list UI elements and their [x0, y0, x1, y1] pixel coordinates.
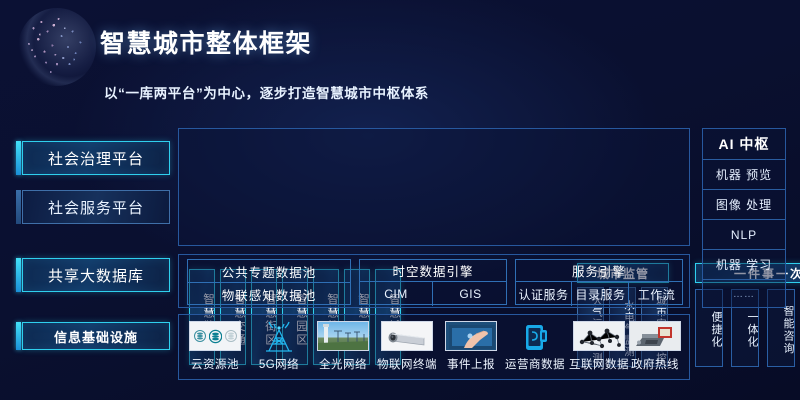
page-title: 智慧城市整体框架 — [100, 24, 312, 60]
particle-globe-icon — [18, 8, 96, 86]
engine-cell-cim[interactable]: CIM — [360, 282, 433, 306]
header: 智慧城市整体框架 以“一库两平台”为中心，逐步打造智慧城市中枢体系 — [0, 0, 800, 112]
spatiotemporal-engine-group: 时空数据引擎 CIM GIS — [359, 259, 507, 305]
page-subtitle: 以“一库两平台”为中心，逐步打造智慧城市中枢体系 — [104, 82, 429, 102]
one-thing-card-label: 便捷化 — [709, 311, 722, 349]
service-cell-label: 工作流 — [638, 286, 676, 303]
sidebar-item-label: 社会治理平台 — [48, 148, 144, 169]
group-title-label: 服务引擎 — [572, 261, 626, 280]
infra-item-label: 物联网终端 — [375, 356, 439, 372]
infra-item-government-hotline[interactable]: 政府热线 — [623, 321, 687, 375]
data-layer-panel: 公共专题数据池 物联感知数据池 时空数据引擎 CIM GIS 服务引擎 认证服务… — [178, 254, 690, 308]
infra-item-label: 运营商数据 — [503, 356, 567, 372]
iot-terminal-icon — [381, 321, 433, 353]
service-engine-group: 服务引擎 认证服务 目录服务 工作流 — [515, 259, 683, 305]
engine-cell-gis[interactable]: GIS — [434, 282, 507, 306]
infra-item-optical-network[interactable]: 全光网络 — [311, 321, 375, 375]
infrastructure-panel: 云资源池 5G网络 — [178, 314, 690, 380]
service-cell-auth[interactable]: 认证服务 — [516, 282, 572, 306]
engine-cell-label: CIM — [384, 287, 408, 301]
government-hotline-icon — [629, 321, 681, 353]
ai-hub-item-label: …… — [733, 289, 755, 300]
sidebar-accent-bar-1 — [16, 190, 21, 224]
infra-item-label: 全光网络 — [311, 356, 375, 372]
application-layer-panel: 智慧警务 智慧交通 智慧街区 智慧园区 智慧教育 智慧医疗 智慧城管 城市监管 … — [178, 128, 690, 246]
data-pool-public-theme[interactable]: 公共专题数据池 — [188, 260, 350, 283]
ai-hub-item-label: 机器 学习 — [716, 256, 772, 273]
engine-cell-label: GIS — [459, 287, 481, 301]
infra-item-event-report[interactable]: 事件上报 — [439, 321, 503, 375]
service-cell-label: 认证服务 — [518, 286, 568, 303]
data-pool-iot-sensing[interactable]: 物联感知数据池 — [188, 283, 350, 306]
event-report-icon — [445, 321, 497, 353]
data-pool-label: 公共专题数据池 — [222, 262, 317, 281]
service-cell-workflow[interactable]: 工作流 — [630, 282, 683, 306]
sidebar-item-social-governance[interactable]: 社会治理平台 — [22, 141, 170, 175]
sidebar-item-social-service[interactable]: 社会服务平台 — [22, 190, 170, 224]
ai-hub-item-nlp[interactable]: NLP — [703, 219, 785, 249]
sidebar-item-label: 信息基础设施 — [54, 327, 138, 346]
infra-item-label: 5G网络 — [247, 356, 311, 372]
infra-item-5g-network[interactable]: 5G网络 — [247, 321, 311, 375]
sidebar-accent-bar-0 — [16, 141, 21, 175]
ai-hub-item-image-processing[interactable]: 图像 处理 — [703, 189, 785, 219]
ai-hub-title: AI 中枢 — [703, 129, 785, 159]
ai-hub-item-machine-learning[interactable]: 机器 学习 — [703, 249, 785, 279]
cloud-resource-pool-icon — [189, 321, 241, 353]
ai-hub-item-label: NLP — [731, 228, 757, 242]
5g-tower-icon — [253, 321, 305, 353]
sidebar-item-label: 社会服务平台 — [48, 197, 144, 218]
ai-hub-item-label: 机器 预览 — [716, 166, 772, 183]
optical-network-icon — [317, 321, 369, 353]
data-pool-group: 公共专题数据池 物联感知数据池 — [187, 259, 351, 305]
infra-item-label: 政府热线 — [623, 356, 687, 372]
ai-hub-item-label: 图像 处理 — [716, 196, 772, 213]
internet-data-icon — [573, 321, 625, 353]
group-title-label: 时空数据引擎 — [392, 261, 473, 280]
spatiotemporal-engine-title: 时空数据引擎 — [360, 260, 506, 282]
infra-item-label: 互联网数据 — [567, 356, 631, 372]
service-cell-catalog[interactable]: 目录服务 — [573, 282, 629, 306]
infra-item-label: 云资源池 — [183, 356, 247, 372]
ai-hub-item-more[interactable]: …… — [703, 279, 785, 309]
sidebar-accent-bar-2 — [16, 258, 21, 292]
infra-item-cloud-resource-pool[interactable]: 云资源池 — [183, 321, 247, 375]
infra-item-label: 事件上报 — [439, 356, 503, 372]
smart-city-framework-diagram: 智慧城市整体框架 以“一库两平台”为中心，逐步打造智慧城市中枢体系 社会治理平台… — [0, 0, 800, 400]
sidebar-item-infrastructure[interactable]: 信息基础设施 — [22, 322, 170, 350]
infra-item-iot-terminal[interactable]: 物联网终端 — [375, 321, 439, 375]
data-pool-label: 物联感知数据池 — [222, 285, 317, 304]
ai-hub-title-label: AI 中枢 — [719, 134, 770, 154]
one-thing-card-label: 一体化 — [745, 311, 758, 349]
ai-hub-panel: AI 中枢 机器 预览 图像 处理 NLP 机器 学习 …… — [702, 128, 786, 308]
infra-item-operator-data[interactable]: 运营商数据 — [503, 321, 567, 375]
service-engine-title: 服务引擎 — [516, 260, 682, 282]
operator-data-icon — [509, 321, 561, 353]
one-thing-card-label: 智能咨询 — [781, 305, 794, 355]
service-cell-label: 目录服务 — [575, 286, 625, 303]
sidebar-item-label: 共享大数据库 — [48, 265, 144, 286]
ai-hub-item-machine-preview[interactable]: 机器 预览 — [703, 159, 785, 189]
sidebar-accent-bar-3 — [16, 322, 21, 350]
sidebar-item-shared-database[interactable]: 共享大数据库 — [22, 258, 170, 292]
infra-item-internet-data[interactable]: 互联网数据 — [567, 321, 631, 375]
